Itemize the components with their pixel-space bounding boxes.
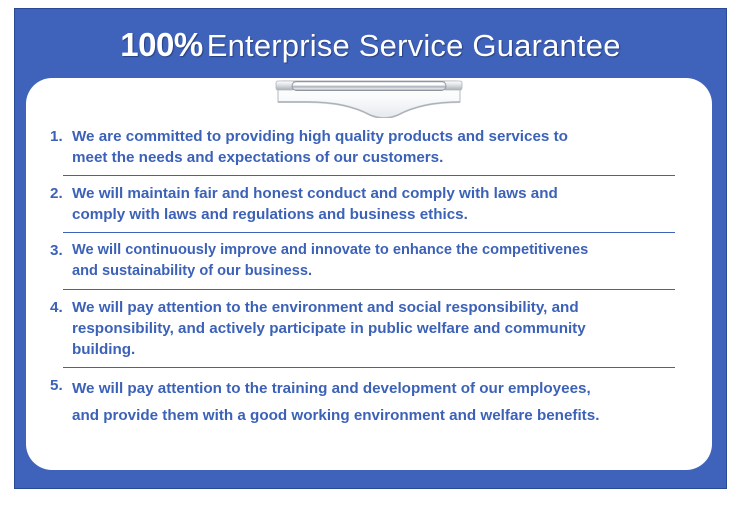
service-guarantee-poster: 100%Enterprise Service Guarantee <box>0 0 750 505</box>
list-item-number: 3. <box>50 240 63 261</box>
title-text: Enterprise Service Guarantee <box>207 28 621 63</box>
list-item-number: 2. <box>50 183 63 204</box>
list-separator <box>63 289 675 290</box>
list-item: 1. We are committed to providing high qu… <box>26 118 712 168</box>
list-item-number: 4. <box>50 297 63 318</box>
list-item: 4. We will pay attention to the environm… <box>26 297 712 360</box>
list-item-text: We will pay attention to the environment… <box>50 297 690 360</box>
list-separator <box>63 175 675 176</box>
list-item-number: 5. <box>50 375 63 396</box>
title-percent: 100% <box>120 26 202 63</box>
list-item-text: We will pay attention to the training an… <box>50 375 690 429</box>
guarantee-list: 1. We are committed to providing high qu… <box>26 118 712 429</box>
list-separator <box>63 367 675 368</box>
list-item-text: We will continuously improve and innovat… <box>50 240 690 282</box>
list-item: 2. We will maintain fair and honest cond… <box>26 183 712 225</box>
list-item-text: We will maintain fair and honest conduct… <box>50 183 690 225</box>
list-item: 5. We will pay attention to the training… <box>26 375 712 429</box>
list-item: 3. We will continuously improve and inno… <box>26 240 712 282</box>
list-item-number: 1. <box>50 126 63 147</box>
page-title: 100%Enterprise Service Guarantee <box>14 26 727 65</box>
clipboard-clip-icon <box>272 78 466 118</box>
list-item-text: We are committed to providing high quali… <box>50 126 690 168</box>
list-separator <box>63 232 675 233</box>
